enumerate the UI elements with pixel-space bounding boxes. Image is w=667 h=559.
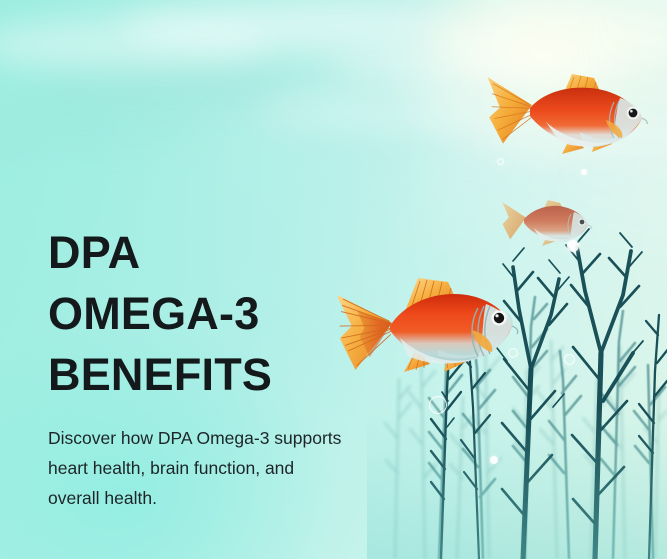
page-subtitle: Discover how DPA Omega-3 supports heart … (48, 423, 348, 513)
text-block: DPA OMEGA-3 BENEFITS Discover how DPA Om… (48, 222, 378, 513)
headline-line-1: DPA (48, 222, 378, 283)
underwater-banner: DPA OMEGA-3 BENEFITS Discover how DPA Om… (0, 0, 667, 559)
page-title: DPA OMEGA-3 BENEFITS (48, 222, 378, 405)
headline-line-3: BENEFITS (48, 344, 378, 405)
sunlight-glow (377, 0, 667, 180)
headline-line-2: OMEGA-3 (48, 283, 378, 344)
